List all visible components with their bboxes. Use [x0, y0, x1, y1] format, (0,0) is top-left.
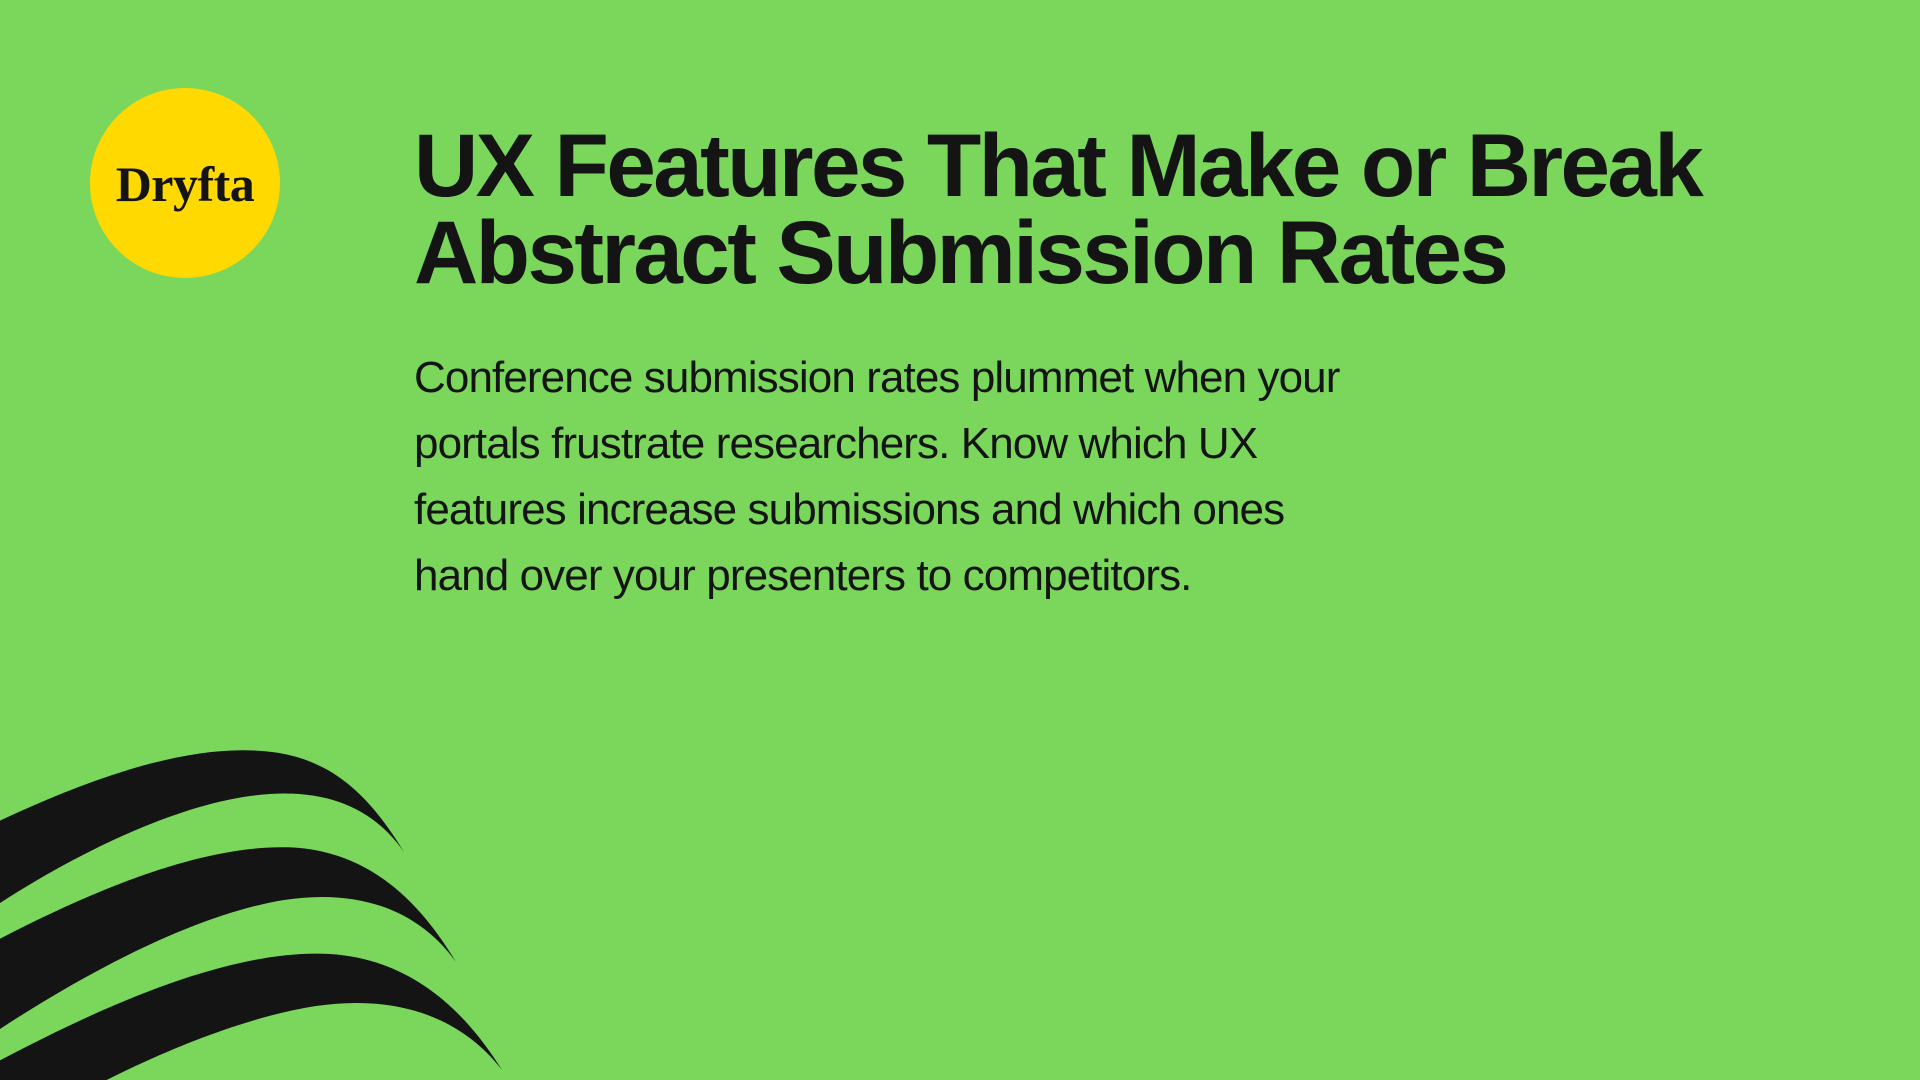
social-card-canvas: Dryfta UX Features That Make or Break Ab…	[0, 0, 1920, 1080]
wave-stripe-2	[0, 847, 456, 1056]
wave-stripe-3	[0, 954, 502, 1080]
page-title: UX Features That Make or Break Abstract …	[414, 122, 1514, 296]
page-subtitle-line-2: portals frustrate researchers. Know whic…	[414, 411, 1514, 477]
brand-logo-badge: Dryfta	[90, 88, 280, 278]
page-subtitle-line-3: features increase submissions and which …	[414, 477, 1514, 543]
page-subtitle: Conference submission rates plummet when…	[414, 296, 1514, 609]
page-subtitle-line-4: hand over your presenters to competitors…	[414, 543, 1514, 609]
brand-wordmark: Dryfta	[116, 159, 255, 209]
page-subtitle-line-1: Conference submission rates plummet when…	[414, 345, 1514, 411]
page-title-line-1: UX Features That Make or Break	[414, 122, 1514, 209]
text-content-block: UX Features That Make or Break Abstract …	[414, 122, 1514, 609]
wave-stripe-1	[0, 750, 404, 930]
page-title-line-2: Abstract Submission Rates	[414, 209, 1514, 296]
